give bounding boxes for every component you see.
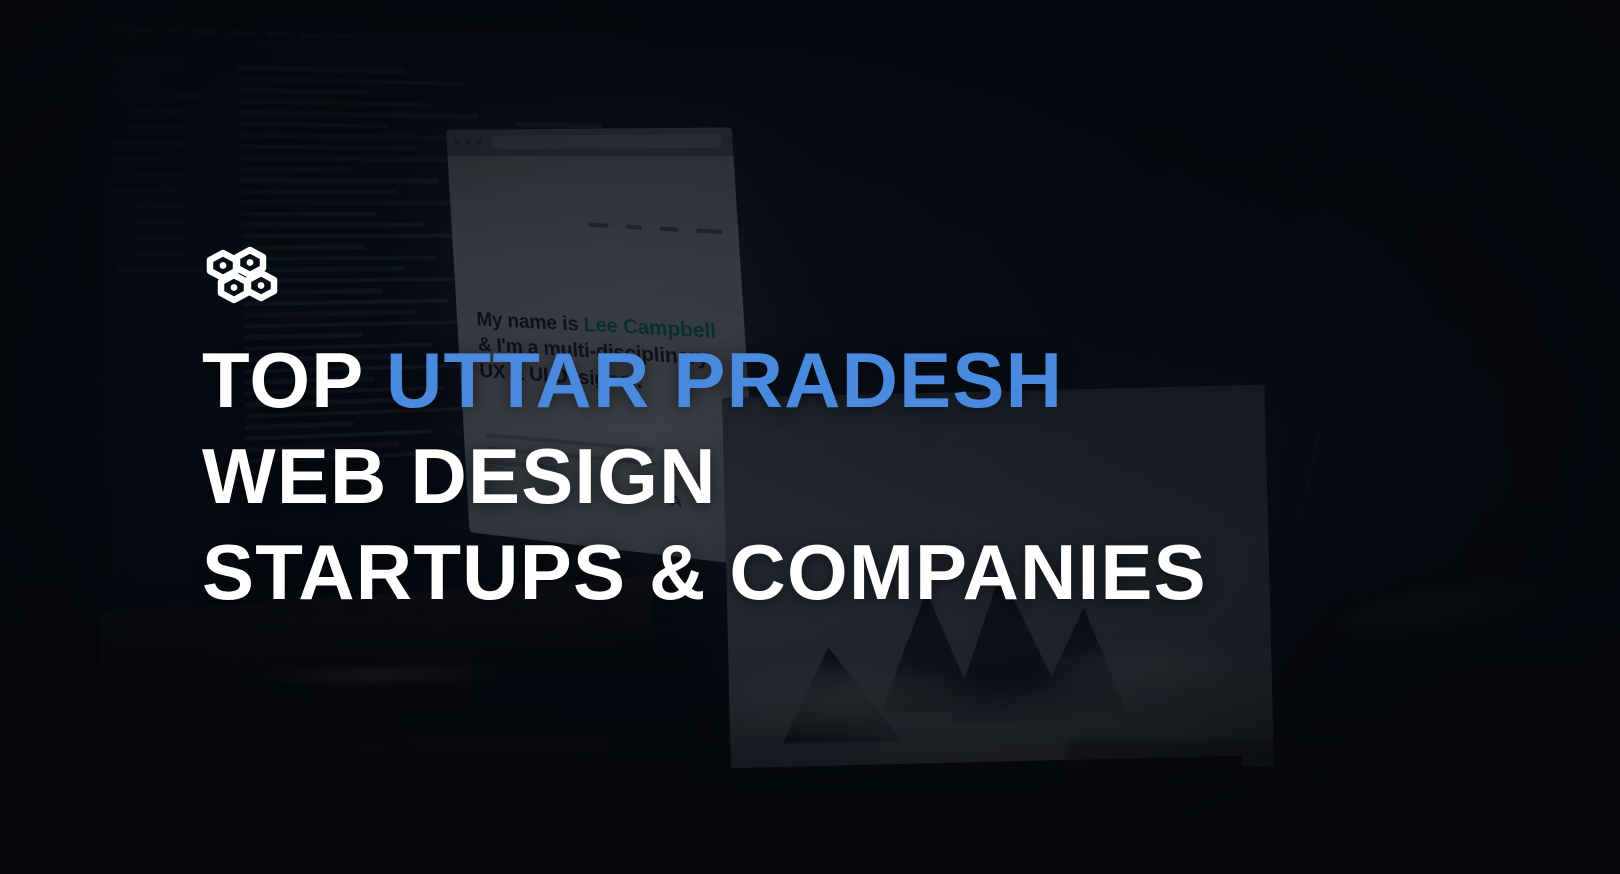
- headline-line-1: TOP UTTAR PRADESH: [202, 332, 1462, 428]
- interlocking-hex-blocks-icon: [203, 245, 279, 307]
- headline-line-2: WEB DESIGN: [202, 428, 1462, 524]
- headline-line-3: STARTUPS & COMPANIES: [202, 524, 1462, 620]
- headline-line-1-accent: UTTAR PRADESH: [386, 336, 1063, 424]
- banner-stage: My name is Lee Campbell & I'm a multi-di…: [0, 0, 1620, 874]
- headline-line-1-prefix: TOP: [202, 336, 386, 424]
- page-title: TOP UTTAR PRADESH WEB DESIGN STARTUPS & …: [202, 332, 1462, 620]
- banner-content: TOP UTTAR PRADESH WEB DESIGN STARTUPS & …: [0, 0, 1620, 874]
